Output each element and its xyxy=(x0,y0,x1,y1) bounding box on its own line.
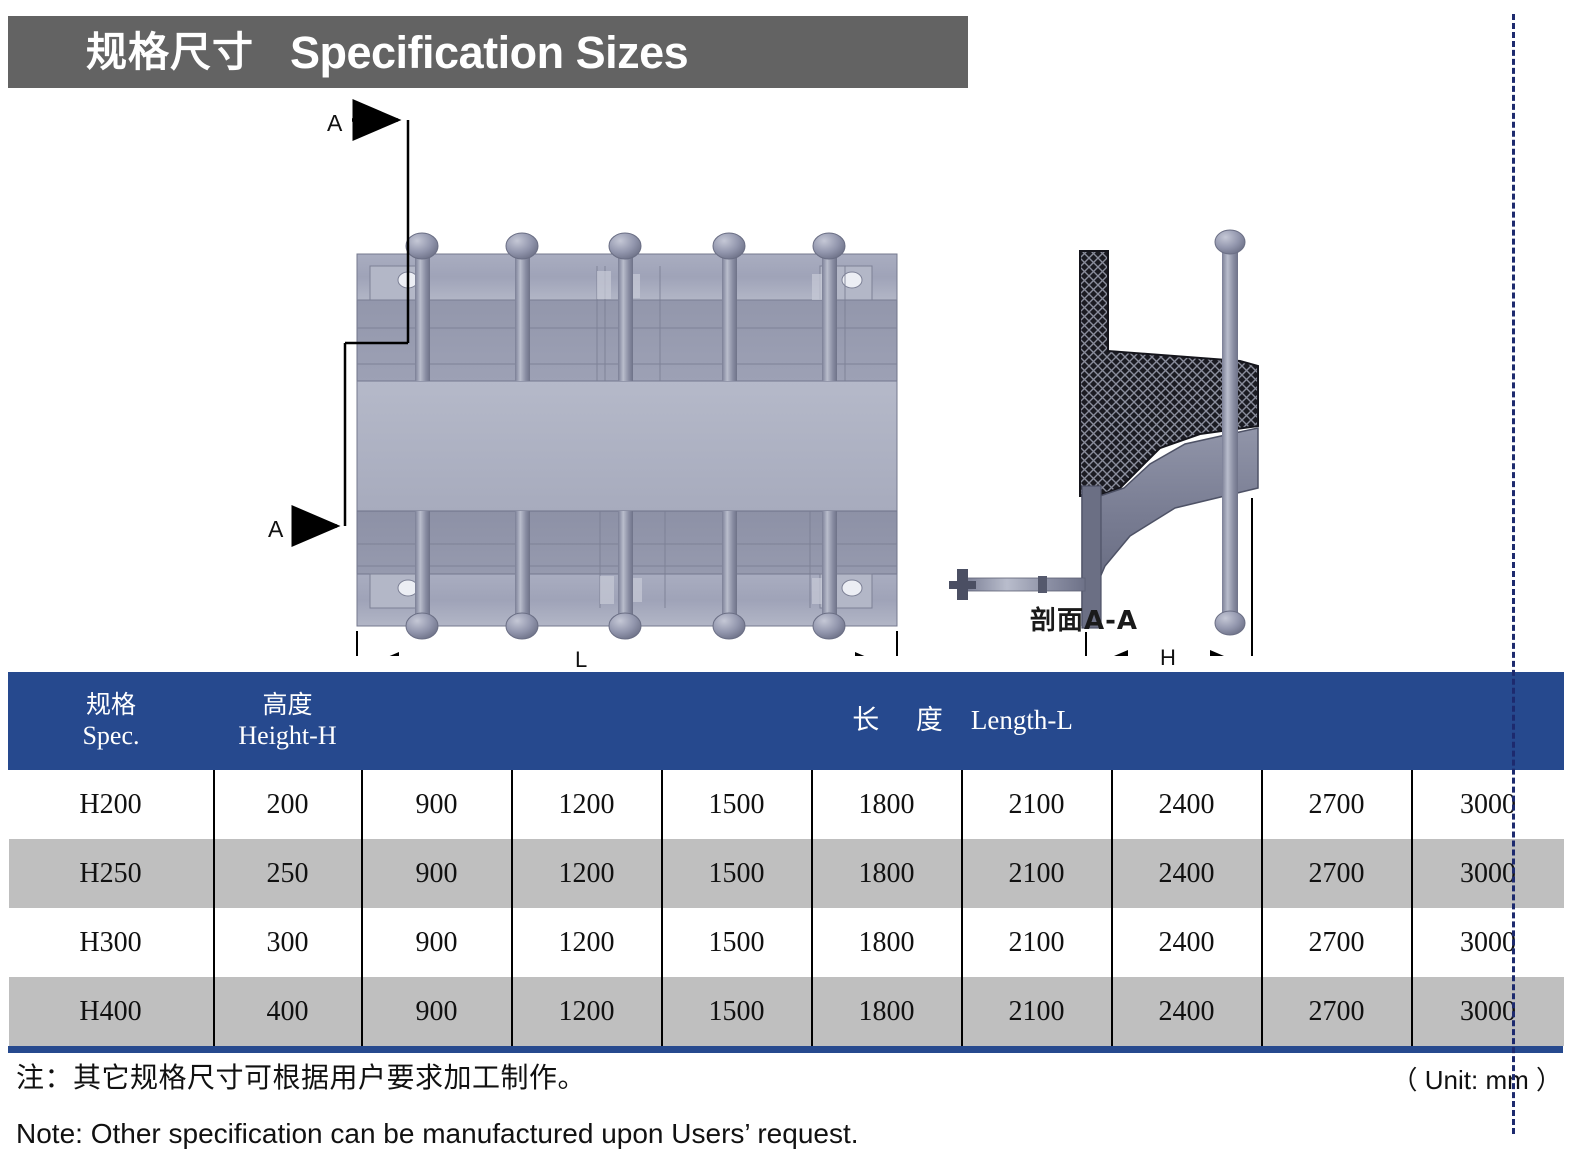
cell-height: 400 xyxy=(214,977,362,1046)
table-bottom-rule xyxy=(8,1046,1563,1053)
cell-length: 2100 xyxy=(962,977,1112,1046)
cell-length: 3000 xyxy=(1412,908,1564,977)
cell-length: 3000 xyxy=(1412,770,1564,839)
mounting-pad-bottom-left xyxy=(370,574,422,608)
cell-length: 2100 xyxy=(962,908,1112,977)
note-english: Note: Other specification can be manufac… xyxy=(16,1118,1316,1150)
header-cell-length: 长 度Length-L xyxy=(362,672,1564,770)
header-height-english: Height-H xyxy=(215,720,360,752)
cell-height: 200 xyxy=(214,770,362,839)
cell-length: 1500 xyxy=(662,977,812,1046)
header-length-chinese: 长 度 xyxy=(852,705,957,736)
plan-view-group xyxy=(292,120,897,656)
cell-spec: H200 xyxy=(9,770,214,839)
cell-length: 3000 xyxy=(1412,839,1564,908)
cell-length: 2400 xyxy=(1112,977,1262,1046)
cell-length: 900 xyxy=(362,977,512,1046)
height-dimension-label: H xyxy=(1160,645,1176,671)
cell-length: 1200 xyxy=(512,839,662,908)
cell-length: 900 xyxy=(362,839,512,908)
drawing-svg xyxy=(0,96,1570,656)
cell-height: 300 xyxy=(214,908,362,977)
note-chinese: 注：其它规格尺寸可根据用户要求加工制作。 xyxy=(16,1056,1316,1096)
cell-length: 1200 xyxy=(512,770,662,839)
cell-length: 1800 xyxy=(812,908,962,977)
notes-block: 注：其它规格尺寸可根据用户要求加工制作。 Note: Other specifi… xyxy=(16,1056,1316,1150)
header-cell-spec: 规格 Spec. xyxy=(9,672,214,770)
section-view-group xyxy=(949,230,1258,656)
cell-length: 1800 xyxy=(812,770,962,839)
mounting-pad-top-left xyxy=(370,266,422,300)
specification-table-wrapper: 规格 Spec. 高度 Height-H 长 度Length-L H200 20… xyxy=(8,672,1563,1053)
table-row: H400 400 900 1200 1500 1800 2100 2400 27… xyxy=(9,977,1564,1046)
table-body: H200 200 900 1200 1500 1800 2100 2400 27… xyxy=(9,770,1564,1046)
cell-length: 2700 xyxy=(1262,770,1412,839)
cell-length: 3000 xyxy=(1412,977,1564,1046)
header-spec-english: Spec. xyxy=(10,720,212,752)
table-header-row: 规格 Spec. 高度 Height-H 长 度Length-L xyxy=(9,672,1564,770)
cell-length: 2400 xyxy=(1112,839,1262,908)
cell-length: 900 xyxy=(362,770,512,839)
cell-length: 2700 xyxy=(1262,839,1412,908)
table-header: 规格 Spec. 高度 Height-H 长 度Length-L xyxy=(9,672,1564,770)
cell-length: 2400 xyxy=(1112,770,1262,839)
header-spec-chinese: 规格 xyxy=(10,690,212,721)
header-height-chinese: 高度 xyxy=(215,690,360,721)
cell-length: 2700 xyxy=(1262,908,1412,977)
cell-length: 2100 xyxy=(962,770,1112,839)
page-edge-dashed-rule xyxy=(1512,14,1515,1134)
page-title-chinese: 规格尺寸 xyxy=(86,32,254,73)
cell-spec: H250 xyxy=(9,839,214,908)
specification-table: 规格 Spec. 高度 Height-H 长 度Length-L H200 20… xyxy=(8,672,1564,1046)
cell-length: 1500 xyxy=(662,839,812,908)
cell-length: 1200 xyxy=(512,977,662,1046)
length-dimension-label: L xyxy=(575,647,587,673)
cell-length: 1500 xyxy=(662,908,812,977)
cell-length: 1200 xyxy=(512,908,662,977)
header-length-english: Length-L xyxy=(971,705,1073,735)
header-cell-height: 高度 Height-H xyxy=(214,672,362,770)
section-marker-label-top: A xyxy=(327,110,342,137)
cell-spec: H400 xyxy=(9,977,214,1046)
cell-length: 1800 xyxy=(812,977,962,1046)
cell-height: 250 xyxy=(214,839,362,908)
table-row: H200 200 900 1200 1500 1800 2100 2400 27… xyxy=(9,770,1564,839)
unit-label: （ Unit: mm ） xyxy=(1392,1060,1562,1097)
page-title-english: Specification Sizes xyxy=(290,30,688,75)
technical-drawing-area: A A L H xyxy=(0,96,1570,656)
cell-length: 2100 xyxy=(962,839,1112,908)
section-view-caption: 剖面A-A xyxy=(1030,600,1138,637)
cell-length: 1800 xyxy=(812,839,962,908)
cell-length: 2700 xyxy=(1262,977,1412,1046)
section-marker-label-bottom: A xyxy=(268,516,283,543)
table-row: H250 250 900 1200 1500 1800 2100 2400 27… xyxy=(9,839,1564,908)
table-row: H300 300 900 1200 1500 1800 2100 2400 27… xyxy=(9,908,1564,977)
cell-length: 2400 xyxy=(1112,908,1262,977)
cell-length: 900 xyxy=(362,908,512,977)
page-header-banner: 规格尺寸 Specification Sizes xyxy=(8,16,968,88)
cell-length: 1500 xyxy=(662,770,812,839)
cell-spec: H300 xyxy=(9,908,214,977)
anchor-bolt xyxy=(949,569,1085,600)
